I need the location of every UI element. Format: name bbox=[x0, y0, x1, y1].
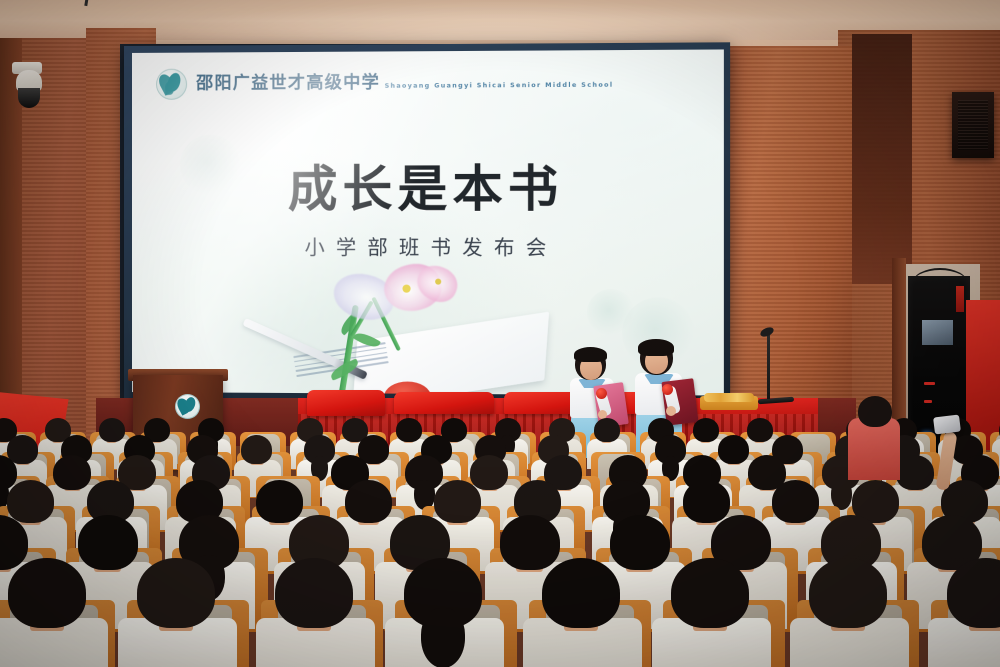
artwork-bud-2 bbox=[435, 279, 441, 285]
audience-member-head bbox=[610, 515, 670, 570]
school-name-cn: 邵阳广益世才高级中学 bbox=[196, 73, 380, 94]
host-hand bbox=[666, 406, 676, 416]
host-corsage-icon bbox=[662, 384, 673, 395]
audience-member-head bbox=[747, 418, 773, 442]
audience-member-head bbox=[542, 558, 620, 628]
audience-member-head bbox=[693, 418, 719, 442]
golden-items bbox=[704, 393, 754, 402]
slide-school-logo: 邵阳广益世才高级中学 Shaoyang Guangyi Shicai Senio… bbox=[156, 66, 614, 99]
rack-red-accent bbox=[956, 286, 964, 312]
audience-member-head bbox=[671, 558, 749, 628]
audience-member-head bbox=[137, 558, 215, 628]
microphone-stand bbox=[767, 333, 770, 399]
audience-member-head bbox=[99, 418, 125, 442]
watermark-flower-2 bbox=[587, 289, 635, 336]
artwork-bud-1 bbox=[402, 285, 410, 293]
podium-school-emblem-icon bbox=[175, 394, 200, 419]
school-name-block: 邵阳广益世才高级中学 Shaoyang Guangyi Shicai Senio… bbox=[196, 74, 613, 93]
audience-member-head bbox=[396, 418, 422, 442]
audience-member-head bbox=[53, 455, 91, 490]
red-cover-2 bbox=[394, 392, 494, 414]
adult-attendee-head bbox=[858, 396, 892, 427]
audience-member-head bbox=[772, 480, 819, 523]
host-hair bbox=[574, 347, 607, 362]
audience-member-head bbox=[345, 480, 392, 523]
rack-led-red-2 bbox=[924, 400, 932, 403]
slide-artwork-flowers-pen-book bbox=[232, 246, 578, 395]
audience-member-head bbox=[7, 480, 54, 523]
audience-member-head bbox=[809, 558, 887, 628]
audience-member-head bbox=[256, 480, 303, 523]
rack-display-panel bbox=[922, 320, 953, 345]
audience-member-head bbox=[500, 515, 560, 570]
audience-member-head bbox=[275, 558, 353, 628]
audience-member-ponytail bbox=[421, 608, 465, 667]
audience-member-head bbox=[241, 435, 272, 464]
adult-attendee-red-shirt bbox=[848, 418, 900, 480]
right-red-banner bbox=[966, 300, 1000, 450]
audience-member-head bbox=[78, 515, 138, 570]
watermark-flower-3 bbox=[180, 135, 240, 195]
rack-led-red-1 bbox=[924, 382, 935, 385]
wall-speaker-icon bbox=[952, 92, 994, 158]
audience-member-head bbox=[718, 435, 749, 464]
school-name-en: Shaoyang Guangyi Shicai Senior Middle Sc… bbox=[385, 82, 614, 90]
audience-member-head bbox=[434, 480, 481, 523]
right-wall-shadow-panel bbox=[852, 34, 912, 284]
auditorium-photo: 邵阳广益世才高级中学 Shaoyang Guangyi Shicai Senio… bbox=[0, 0, 1000, 667]
red-cover-1 bbox=[307, 390, 385, 416]
audience-member-head bbox=[470, 455, 508, 490]
audience-member-head bbox=[594, 418, 620, 442]
smartphone-recording-icon bbox=[933, 414, 961, 434]
host-corsage-icon bbox=[596, 388, 607, 399]
school-leaf-emblem-icon bbox=[156, 69, 187, 100]
audience-member-head bbox=[8, 558, 86, 628]
host-hair bbox=[638, 339, 674, 356]
audience-member-head bbox=[896, 455, 934, 490]
audience-member-head bbox=[683, 480, 730, 523]
